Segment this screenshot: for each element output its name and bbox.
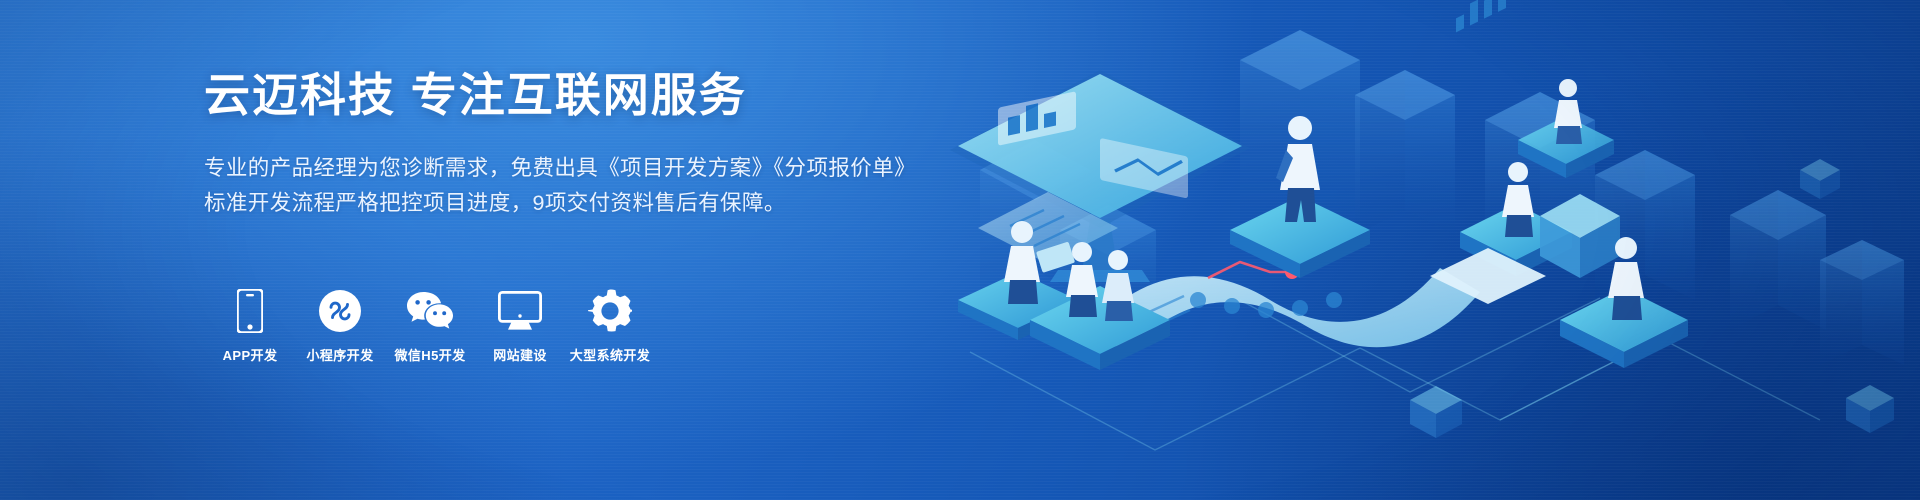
service-label: 大型系统开发 bbox=[570, 345, 650, 364]
service-label: APP开发 bbox=[223, 345, 278, 364]
service-item-wechat[interactable]: 微信H5开发 bbox=[385, 288, 475, 364]
isometric-tech-team-illustration bbox=[940, 0, 1920, 500]
wechat-icon bbox=[406, 288, 454, 334]
service-item-app[interactable]: APP开发 bbox=[205, 288, 295, 364]
service-item-system[interactable]: 大型系统开发 bbox=[565, 288, 655, 364]
mobile-phone-icon bbox=[237, 288, 263, 334]
gear-icon bbox=[588, 288, 632, 334]
service-label: 微信H5开发 bbox=[394, 345, 465, 364]
page-title: 云迈科技 专注互联网服务 bbox=[204, 68, 904, 122]
subtitle-line-1: 专业的产品经理为您诊断需求，免费出具《项目开发方案》《分项报价单》 bbox=[204, 151, 904, 186]
service-label: 网站建设 bbox=[493, 345, 547, 364]
service-label: 小程序开发 bbox=[306, 345, 373, 364]
mini-program-icon bbox=[318, 288, 362, 334]
hero-banner: 云迈科技 专注互联网服务 专业的产品经理为您诊断需求，免费出具《项目开发方案》《… bbox=[0, 0, 1920, 500]
service-icon-list: APP开发 小程序开发 bbox=[205, 288, 655, 364]
hero-copy: 云迈科技 专注互联网服务 专业的产品经理为您诊断需求，免费出具《项目开发方案》《… bbox=[204, 68, 904, 221]
service-item-website[interactable]: 网站建设 bbox=[475, 288, 565, 364]
monitor-icon bbox=[498, 288, 542, 334]
illustration-container bbox=[940, 0, 1920, 500]
service-item-miniprogram[interactable]: 小程序开发 bbox=[295, 288, 385, 364]
hero-subtitle: 专业的产品经理为您诊断需求，免费出具《项目开发方案》《分项报价单》 标准开发流程… bbox=[204, 151, 904, 221]
subtitle-line-2: 标准开发流程严格把控项目进度，9项交付资料售后有保障。 bbox=[204, 186, 904, 221]
